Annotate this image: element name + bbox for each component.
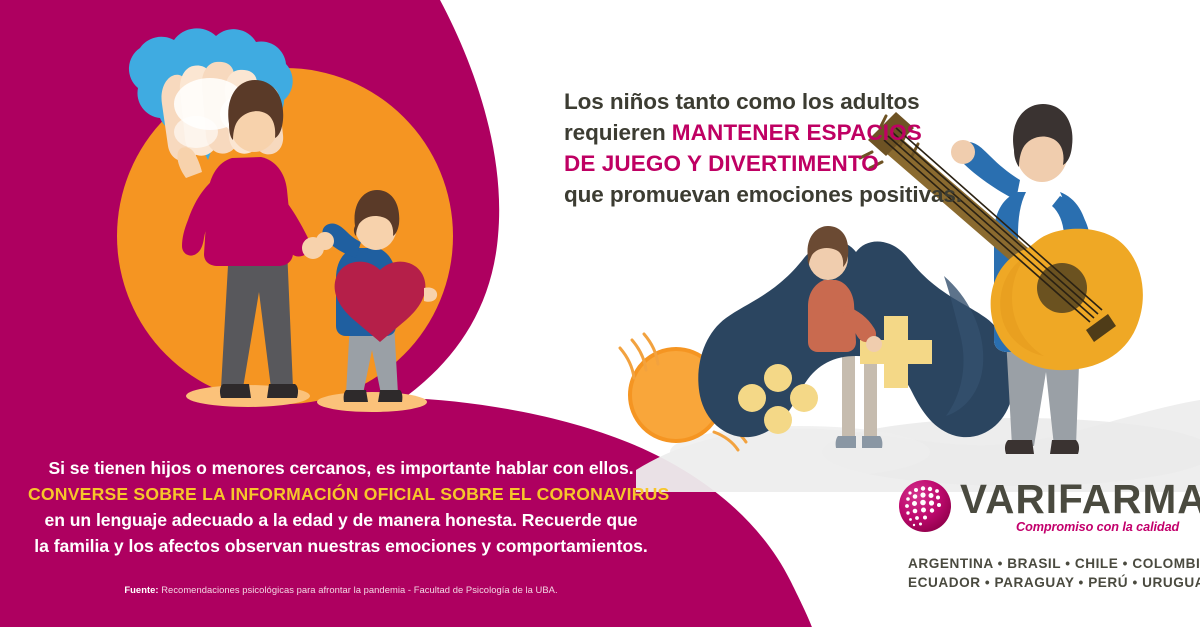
gamepad-button-right <box>790 384 818 412</box>
source-label: Fuente: <box>124 584 158 595</box>
gamepad-button-top <box>764 364 792 392</box>
headline-line-3: DE JUEGO Y DIVERTIMENTO <box>564 148 1004 179</box>
advice-line-2-accent: CONVERSE SOBRE LA INFORMACIÓN OFICIAL SO… <box>28 481 654 507</box>
varifarma-logo-block: VARIFARMA Compromiso con la calidad ARGE… <box>898 476 1170 536</box>
banner-root: Los niños tanto como los adultos requier… <box>0 0 1200 627</box>
headline-line-4: que promuevan emociones positivas. <box>564 179 1004 210</box>
headline-line-2-plain: requieren <box>564 120 672 145</box>
logo-lockup: VARIFARMA Compromiso con la calidad <box>898 476 1170 536</box>
headline-line-1: Los niños tanto como los adultos <box>564 86 1004 117</box>
gamepad-button-bottom <box>764 406 792 434</box>
headline-line-2: requieren MANTENER ESPACIOS <box>564 117 1004 148</box>
headline-line-1-text: Los niños tanto como los adultos <box>564 89 920 114</box>
advice-text-block: Si se tienen hijos o menores cercanos, e… <box>28 455 654 559</box>
gamepad-button-left <box>738 384 766 412</box>
source-footnote: Fuente: Recomendaciones psicológicas par… <box>28 584 654 595</box>
varifarma-sphere-icon <box>898 479 952 533</box>
countries-line-2: ECUADOR • PARAGUAY • PERÚ • URUGUAY <box>908 573 1170 592</box>
advice-line-3: en un lenguaje adecuado a la edad y de m… <box>28 507 654 533</box>
headline-line-2-highlight: MANTENER ESPACIOS <box>672 120 922 145</box>
advice-line-1: Si se tienen hijos o menores cercanos, e… <box>28 455 654 481</box>
advice-line-4: la familia y los afectos observan nuestr… <box>28 533 654 559</box>
gamepad-illustration <box>698 241 1013 437</box>
source-text: Recomendaciones psicológicas para afront… <box>159 584 558 595</box>
headline-line-3-highlight: DE JUEGO Y DIVERTIMENTO <box>564 151 879 176</box>
varifarma-wordmark: VARIFARMA <box>960 476 1200 522</box>
varifarma-tagline: Compromiso con la calidad <box>1016 520 1179 534</box>
headline-text-block: Los niños tanto como los adultos requier… <box>564 86 1004 210</box>
countries-line-1: ARGENTINA • BRASIL • CHILE • COLOMBIA <box>908 554 1170 573</box>
countries-list: ARGENTINA • BRASIL • CHILE • COLOMBIA EC… <box>908 554 1170 593</box>
headline-line-4-text: que promuevan emociones positivas. <box>564 182 962 207</box>
